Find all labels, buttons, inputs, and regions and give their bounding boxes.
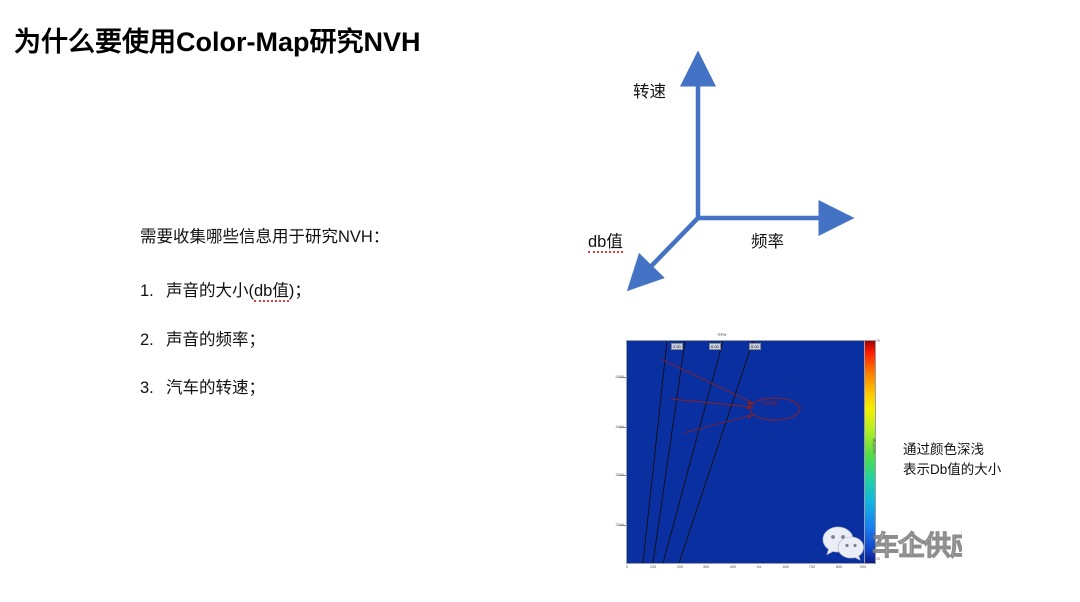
- list-item: 3. 汽车的转速；: [140, 379, 540, 399]
- list-item: 1. 声音的大小(db值)；: [140, 282, 540, 302]
- axis-label-depth: db值: [588, 228, 623, 252]
- list-item: 2. 声音的频率；: [140, 331, 540, 351]
- page-title: 为什么要使用Color-Map研究NVH: [14, 20, 421, 59]
- slide-canvas: 为什么要使用Color-Map研究NVH 需要收集哪些信息用于研究NVH： 1.…: [0, 0, 1080, 602]
- x-tick-label: 600: [783, 565, 789, 569]
- list-item-number: 2.: [140, 331, 166, 351]
- axis-line-depth: [630, 218, 698, 288]
- spellcheck-term: db值: [254, 282, 289, 302]
- figure-caption: 通过颜色深浅 表示Db值的大小: [903, 440, 1001, 479]
- body-lead-text: 需要收集哪些信息用于研究NVH：: [140, 228, 540, 248]
- axis-label-horizontal: 频率: [751, 228, 784, 252]
- x-tick-label: 400: [730, 565, 736, 569]
- colorbar-max-label: 70: [876, 339, 880, 343]
- order-annotation-label: Order: [763, 401, 778, 407]
- axis-label-depth-text: db值: [588, 233, 623, 253]
- x-tick-label: 900: [860, 565, 866, 569]
- axis-diagram-svg: [560, 28, 890, 313]
- axis-label-vertical: 转速: [633, 78, 666, 102]
- list-item-number: 3.: [140, 379, 166, 399]
- x-axis-title: Hz: [757, 565, 762, 569]
- wechat-qr-code[interactable]: [962, 485, 1072, 595]
- list-item-number: 1.: [140, 282, 166, 302]
- x-tick-label: 100: [650, 565, 656, 569]
- order-tag: 8.00: [749, 343, 761, 350]
- figure-caption-line2: 表示Db值的大小: [903, 460, 1001, 480]
- x-tick-label: 700: [809, 565, 815, 569]
- wechat-logo-icon: [822, 525, 866, 563]
- list-item-text-after: )；: [289, 282, 311, 300]
- list-item-text-before: 声音的大小(: [166, 282, 254, 300]
- order-tag: 6.00: [709, 343, 721, 350]
- order-lines: [643, 341, 753, 563]
- colorbar-axis-title: dB(A)/20u: [872, 438, 876, 454]
- x-tick-label: 300: [703, 565, 709, 569]
- x-tick-label: 800: [836, 565, 842, 569]
- figure-caption-line1: 通过颜色深浅: [903, 440, 1001, 460]
- annotation-arrows: [661, 359, 753, 433]
- x-tick-label: 0: [626, 565, 628, 569]
- list-item-text: 声音的大小(db值)；: [166, 282, 311, 302]
- order-tag: 2.00: [671, 343, 683, 350]
- spectrogram-top-title: RPM: [718, 333, 727, 337]
- list-item-text: 汽车的转速；: [166, 379, 265, 399]
- x-tick-label: 200: [677, 565, 683, 569]
- list-item-text: 声音的频率；: [166, 331, 265, 351]
- axis-diagram: 转速 频率 db值: [560, 28, 890, 313]
- body-text-block: 需要收集哪些信息用于研究NVH： 1. 声音的大小(db值)； 2. 声音的频率…: [140, 228, 540, 428]
